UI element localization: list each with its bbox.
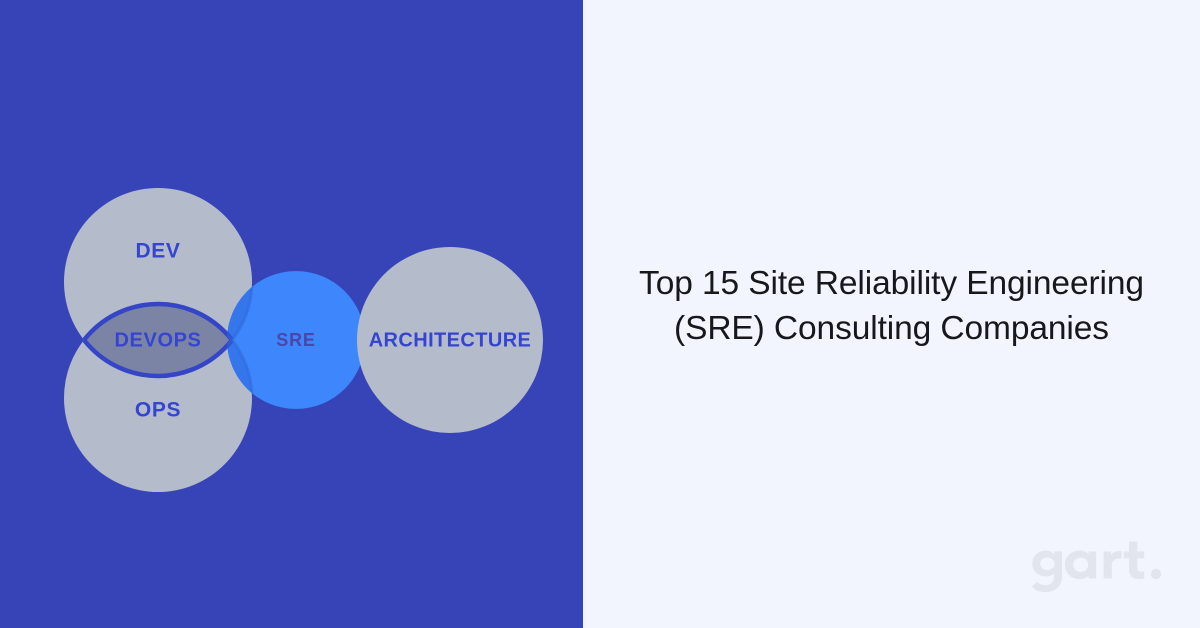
venn-svg: DEV DEVOPS OPS SRE ARCHITECTURE bbox=[0, 0, 583, 628]
venn-label-ops: OPS bbox=[135, 399, 181, 422]
content-panel: Top 15 Site Reliability Engineering (SRE… bbox=[583, 0, 1200, 628]
gart-logo-svg bbox=[1024, 536, 1174, 598]
page-title: Top 15 Site Reliability Engineering (SRE… bbox=[583, 262, 1200, 351]
venn-label-devops: DEVOPS bbox=[115, 329, 202, 351]
diagram-panel: DEV DEVOPS OPS SRE ARCHITECTURE bbox=[0, 0, 583, 628]
gart-logo-mark bbox=[1032, 542, 1161, 593]
venn-label-dev: DEV bbox=[136, 240, 181, 263]
venn-diagram: DEV DEVOPS OPS SRE ARCHITECTURE bbox=[0, 0, 583, 628]
venn-label-architecture: ARCHITECTURE bbox=[369, 329, 532, 351]
venn-label-sre: SRE bbox=[276, 330, 315, 350]
gart-logo bbox=[1024, 536, 1174, 598]
page-title-line-2: (SRE) Consulting Companies bbox=[674, 310, 1109, 347]
page-title-line-1: Top 15 Site Reliability Engineering bbox=[639, 265, 1144, 302]
promo-card: DEV DEVOPS OPS SRE ARCHITECTURE Top 15 S… bbox=[0, 0, 1200, 628]
